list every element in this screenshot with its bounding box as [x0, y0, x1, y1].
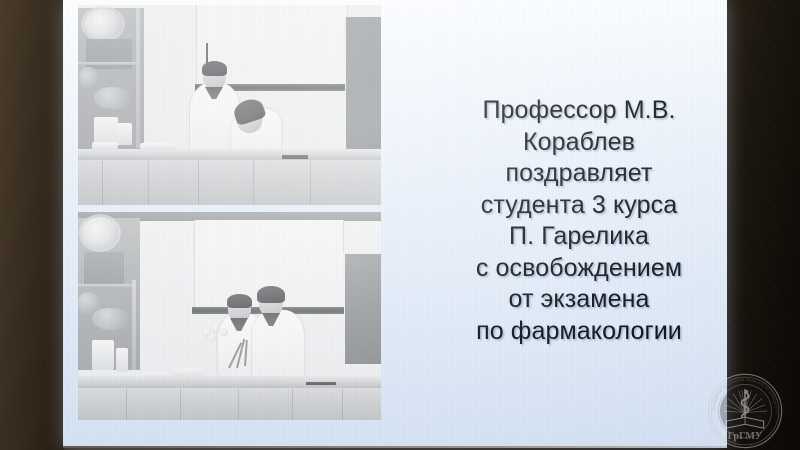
slide-text-line-7: от экзамена: [443, 284, 715, 316]
screenshot-root: Профессор М.В. Кораблев поздравляет студ…: [0, 0, 800, 450]
cabinet-specimen-b: [92, 308, 132, 330]
bench-items: [140, 143, 176, 150]
cabinet-post: [136, 8, 140, 148]
cabinet-jar: [92, 340, 114, 370]
window-panel: [343, 252, 381, 366]
cabinet-shelf-edge: [78, 62, 136, 65]
cabinet-post: [132, 280, 136, 370]
lab-bench-front: [78, 160, 381, 205]
cabinet-specimen-b: [94, 87, 134, 109]
cabinet-medallion: [84, 9, 122, 39]
slide-text-block: Профессор М.В. Кораблев поздравляет студ…: [443, 95, 715, 347]
wall-left-band: [0, 0, 64, 450]
lab-bench-front: [78, 388, 381, 420]
window-panel: [344, 15, 381, 151]
bench-flowers: [172, 368, 206, 378]
slide-text-line-1: Профессор М.В.: [443, 95, 715, 127]
slide-text-line-8: по фармакологии: [443, 316, 715, 348]
slide-text-line-6: с освобождением: [443, 253, 715, 285]
cabinet-shelf-edge: [78, 284, 132, 287]
slide-text-line-4: студента 3 курса: [443, 190, 715, 222]
university-seal-watermark: Гродзенскі дзяржаўны медыцынскі ўніверсі…: [706, 372, 784, 450]
slide-text-line-2: Кораблев: [443, 127, 715, 159]
cabinet-plaque: [84, 252, 124, 284]
cabinet-specimen-a: [79, 67, 99, 91]
bench-papers: [144, 372, 166, 378]
slide-bottom-edge: [63, 446, 727, 448]
bench-marker-tray: [282, 155, 308, 159]
slide-text-line-5: П. Гарелика: [443, 221, 715, 253]
cabinet-jar-2: [116, 123, 132, 145]
cabinet-flask: [116, 348, 128, 372]
presentation-slide: Профессор М.В. Кораблев поздравляет студ…: [63, 0, 727, 448]
photo-top: [78, 5, 381, 205]
photo-bottom: [78, 212, 381, 420]
seal-acronym: ГрГМУ: [728, 431, 763, 442]
cabinet-jar: [94, 117, 118, 145]
cabinet-medallion: [82, 217, 118, 249]
bench-papers: [92, 142, 118, 150]
slide-text-line-3: поздравляет: [443, 158, 715, 190]
bench-marker-tray: [306, 382, 336, 385]
